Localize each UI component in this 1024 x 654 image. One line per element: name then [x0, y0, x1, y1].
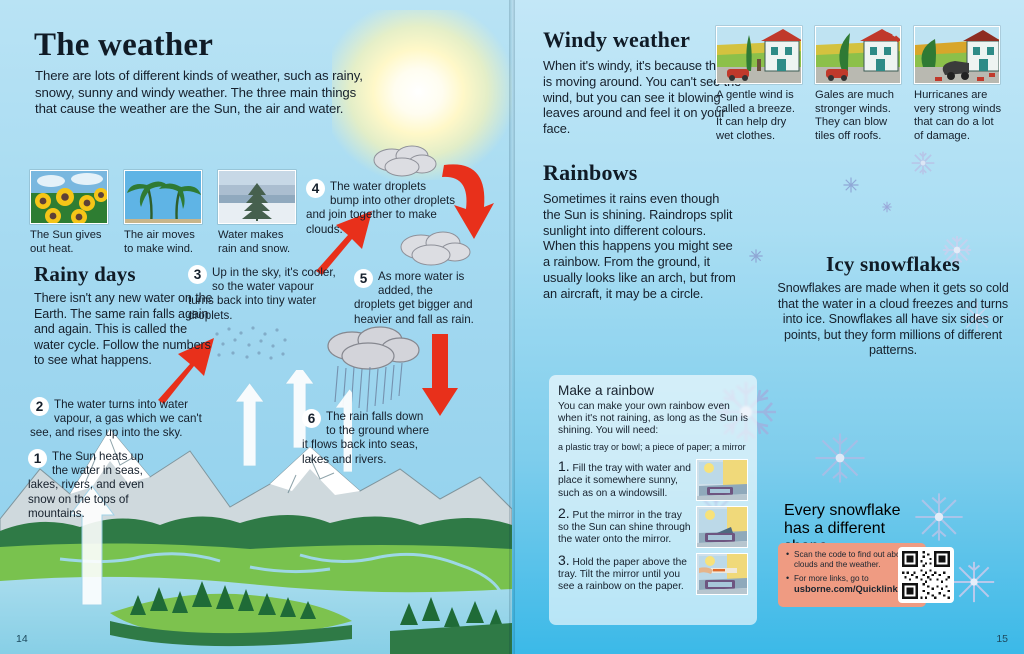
photo-caption: Water makes rain and snow.: [218, 229, 300, 256]
step-text: The water turns into water vapour, a gas…: [30, 398, 210, 441]
water-cycle-step-3: 3 Up in the sky, it's cooler, so the wat…: [188, 266, 338, 323]
page-number-left: 14: [16, 633, 28, 645]
water-cycle-step-5: 5 As more water is added, the droplets g…: [354, 270, 476, 327]
qr-code[interactable]: [898, 547, 954, 603]
activity-intro: You can make your own rainbow even when …: [558, 401, 748, 437]
left-page: The weather There are lots of different …: [0, 0, 512, 654]
step-number: 3: [188, 265, 207, 284]
gentle-wind-illustration: [716, 26, 802, 84]
step-text: The Sun heats up the water in seas, lake…: [28, 450, 156, 521]
step-number: 2: [30, 397, 49, 416]
palm-trees-photo: [124, 170, 202, 224]
quicklinks-box: Scan the code to find out about clouds a…: [778, 543, 926, 607]
rainbows-section: Rainbows Sometimes it rains even though …: [543, 160, 738, 302]
make-a-rainbow-activity-box: Make a rainbow You can make your own rai…: [549, 375, 757, 625]
snowflake-icon: [952, 560, 996, 604]
activity-materials: a plastic tray or bowl; a piece of paper…: [558, 442, 748, 453]
activity-step-text: Hold the paper above the tray. Tilt the …: [558, 557, 687, 592]
rainy-days-section: Rainy days There isn't any new water on …: [34, 262, 214, 369]
photo-caption: The Sun gives out heat.: [30, 229, 112, 256]
gale-illustration: [815, 26, 901, 84]
snowflake-icon: [880, 200, 894, 214]
book-spread: The weather There are lots of different …: [0, 0, 1024, 654]
activity-step-text: Fill the tray with water and place it so…: [558, 463, 691, 498]
snowflake-crystal: [912, 490, 966, 544]
activity-step-number: 1.: [558, 458, 570, 474]
wind-caption: Gales are much stronger winds. They can …: [815, 89, 903, 143]
snowflake-crystal: [812, 430, 868, 486]
weather-photo-row: The Sun gives out heat.: [30, 170, 300, 256]
cloud-illustration-top: [370, 140, 440, 180]
page-number-right: 15: [996, 633, 1008, 645]
hurricane-illustration: [914, 26, 1000, 84]
step-text: The water droplets bump into other dropl…: [306, 180, 458, 237]
activity-step-2: 2. Put the mirror in the tray so the Sun…: [558, 507, 748, 547]
activity-thumbnail-1: [696, 459, 748, 501]
activity-step-3: 3. Hold the paper above the tray. Tilt t…: [558, 554, 748, 594]
quicklinks-prefix: For more links, go to: [794, 574, 869, 583]
step-text: Up in the sky, it's cooler, so the water…: [188, 266, 338, 323]
wind-caption: Hurricanes are very strong winds that ca…: [914, 89, 1002, 143]
activity-step-number: 2.: [558, 505, 570, 521]
snowflake-icon-large: [910, 150, 936, 176]
left-page-title: The weather: [34, 26, 334, 64]
activity-thumbnail-2: [696, 506, 748, 548]
water-cycle-step-1: 1 The Sun heats up the water in seas, la…: [28, 450, 156, 521]
activity-title: Make a rainbow: [558, 383, 748, 398]
step-number: 6: [302, 409, 321, 428]
water-cycle-step-2: 2 The water turns into water vapour, a g…: [30, 398, 210, 441]
step-number: 1: [28, 449, 47, 468]
left-page-intro-text: There are lots of different kinds of wea…: [35, 68, 365, 118]
wind-strength-row: A gentle wind is called a breeze. It can…: [716, 26, 1016, 143]
activity-thumbnail-3: [696, 553, 748, 595]
step-text: The rain falls down to the ground where …: [302, 410, 430, 467]
snowflake-icon: [842, 176, 860, 194]
snowflake-icon: [748, 248, 764, 264]
red-arrow-down: [420, 330, 460, 420]
windy-weather-section: Windy weather When it's windy, it's beca…: [543, 27, 743, 137]
step-number: 4: [306, 179, 325, 198]
photo-caption: The air moves to make wind.: [124, 229, 206, 256]
water-cycle-step-4: 4 The water droplets bump into other dro…: [306, 180, 458, 237]
activity-step-number: 3.: [558, 552, 570, 568]
quicklinks-url[interactable]: usborne.com/Quicklinks: [794, 583, 903, 594]
activity-step-1: 1. Fill the tray with water and place it…: [558, 460, 748, 500]
water-cycle-step-6: 6 The rain falls down to the ground wher…: [302, 410, 430, 467]
step-number: 5: [354, 269, 373, 288]
icy-snowflakes-section: Icy snowflakes Snowflakes are made when …: [768, 252, 1018, 359]
sunflowers-photo: [30, 170, 108, 224]
wind-caption: A gentle wind is called a breeze. It can…: [716, 89, 804, 143]
snowy-tree-photo: [218, 170, 296, 224]
activity-step-text: Put the mirror in the tray so the Sun ca…: [558, 510, 691, 545]
